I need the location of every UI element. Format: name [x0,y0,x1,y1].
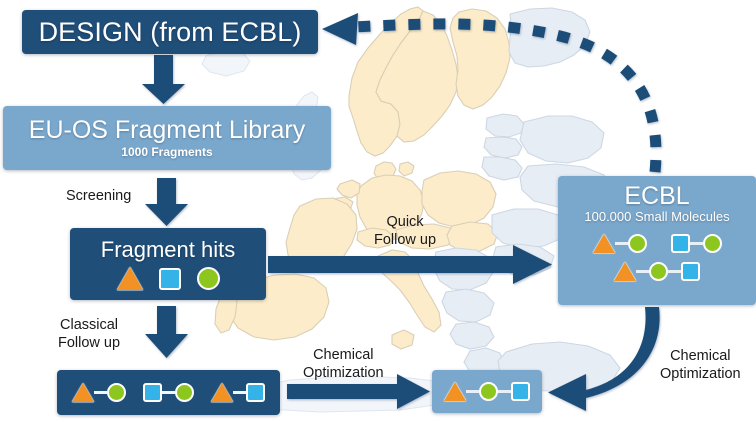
label-chemopt-bottom-line2: Optimization [303,365,384,383]
node-ecbl-label: ECBL [624,183,689,209]
molecule-triangle-circle [593,234,647,253]
ecbl-molecule-row-1 [593,234,722,253]
node-design[interactable]: DESIGN (from ECBL) [22,10,318,54]
label-classical-follow-up: Classical Follow up [58,317,120,352]
node-fragment-hits[interactable]: Fragment hits [70,228,266,300]
optimized-molecule-row [444,382,530,401]
molecule-triangle-circle-square [444,382,530,401]
bond-line [466,390,479,393]
label-screening: Screening [66,188,131,205]
node-design-label: DESIGN (from ECBL) [39,18,302,46]
bond-line [636,270,649,273]
molecule-square-circle [143,383,194,402]
circle-icon [479,382,498,401]
label-classical-line1: Classical [58,317,120,335]
triangle-icon [211,383,233,402]
diagram-canvas: .lc{fill:#fdecc9;stroke:#d9cfb6;stroke-w… [0,0,756,422]
label-chemical-optimization-right: Chemical Optimization [660,348,741,383]
node-optimized-hit[interactable] [432,370,542,413]
node-classical-hits[interactable] [57,370,280,415]
node-library[interactable]: EU-OS Fragment Library 1000 Fragments [3,106,331,170]
square-icon [681,262,700,281]
molecule-triangle-circle-square [614,262,700,281]
triangle-icon [444,382,466,401]
bond-line [668,270,681,273]
classical-molecule-row [72,383,265,402]
fragment-hits-shape-row [117,267,220,290]
label-screening-text: Screening [66,188,131,204]
square-icon [671,234,690,253]
bond-line [94,391,107,394]
label-quick-follow-up: Quick Follow up [374,214,436,249]
circle-icon [107,383,126,402]
molecule-square-circle [671,234,722,253]
triangle-icon [614,262,636,281]
triangle-icon [72,383,94,402]
circle-icon [649,262,668,281]
label-classical-line2: Follow up [58,335,120,353]
bond-line [690,242,703,245]
node-ecbl-sublabel: 100.000 Small Molecules [584,210,729,224]
node-fragment-hits-label: Fragment hits [101,238,236,261]
node-library-label: EU-OS Fragment Library [29,117,305,143]
label-quick-line1: Quick [374,214,436,232]
circle-icon [703,234,722,253]
bond-line [233,391,246,394]
bond-line [615,242,628,245]
circle-icon [197,267,220,290]
ecbl-molecule-row-2 [614,262,700,281]
square-icon [511,382,530,401]
triangle-icon [117,267,143,290]
label-chemical-optimization-bottom: Chemical Optimization [303,347,384,382]
label-quick-line2: Follow up [374,232,436,250]
circle-icon [175,383,194,402]
label-chemopt-right-line1: Chemical [660,348,741,366]
node-library-sublabel: 1000 Fragments [121,146,212,159]
square-icon [143,383,162,402]
square-icon [159,268,181,290]
triangle-icon [593,234,615,253]
label-chemopt-right-line2: Optimization [660,366,741,384]
square-icon [246,383,265,402]
label-chemopt-bottom-line1: Chemical [303,347,384,365]
node-ecbl[interactable]: ECBL 100.000 Small Molecules [558,176,756,305]
circle-icon [628,234,647,253]
molecule-triangle-circle [72,383,126,402]
molecule-triangle-square [211,383,265,402]
bond-line [162,391,175,394]
bond-line [498,390,511,393]
